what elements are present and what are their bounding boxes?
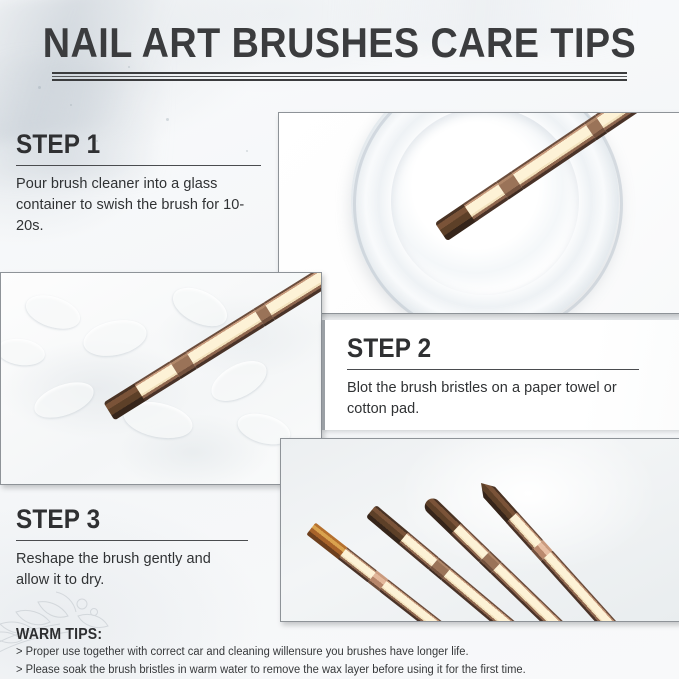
title-underline — [52, 72, 627, 81]
step-3-label: STEP 3 — [16, 505, 225, 533]
step-3-block: STEP 3 Reshape the brush gently and allo… — [16, 505, 248, 591]
step-2-block: STEP 2 Blot the brush bristles on a pape… — [347, 334, 647, 420]
photo-four-brushes — [280, 438, 679, 622]
step-1-body: Pour brush cleaner into a glass containe… — [16, 174, 261, 236]
texture-speck — [128, 66, 130, 68]
warm-tips-title: WARM TIPS: — [16, 626, 579, 644]
page-title: NAIL ART BRUSHES CARE TIPS — [34, 22, 645, 64]
step-2-label: STEP 2 — [347, 334, 617, 362]
texture-speck — [70, 104, 72, 106]
step-3-body: Reshape the brush gently and allow it to… — [16, 549, 248, 590]
texture-speck — [38, 86, 41, 89]
warm-tips-section: WARM TIPS: > Proper use together with co… — [16, 626, 656, 679]
step-3-divider — [16, 540, 248, 541]
step-1-label: STEP 1 — [16, 130, 237, 158]
texture-speck — [166, 118, 169, 121]
step-1-block: STEP 1 Pour brush cleaner into a glass c… — [16, 130, 261, 236]
warm-tips-line: > Proper use together with correct car a… — [16, 644, 637, 662]
photo-paper-towel — [0, 272, 322, 485]
step-2-body: Blot the brush bristles on a paper towel… — [347, 378, 647, 419]
step-2-card: STEP 2 Blot the brush bristles on a pape… — [322, 320, 679, 430]
warm-tips-line: > Please soak the brush bristles in warm… — [16, 662, 637, 679]
photo-glass-bowl — [278, 112, 679, 314]
step-1-divider — [16, 165, 261, 166]
title-underline-rule — [52, 72, 627, 74]
title-underline-rule — [52, 76, 627, 77]
page-title-wrapper: NAIL ART BRUSHES CARE TIPS — [0, 22, 679, 64]
title-underline-rule — [52, 79, 627, 81]
infographic-page: NAIL ART BRUSHES CARE TIPS STEP 1 Pour b… — [0, 0, 679, 679]
step-2-divider — [347, 369, 639, 370]
